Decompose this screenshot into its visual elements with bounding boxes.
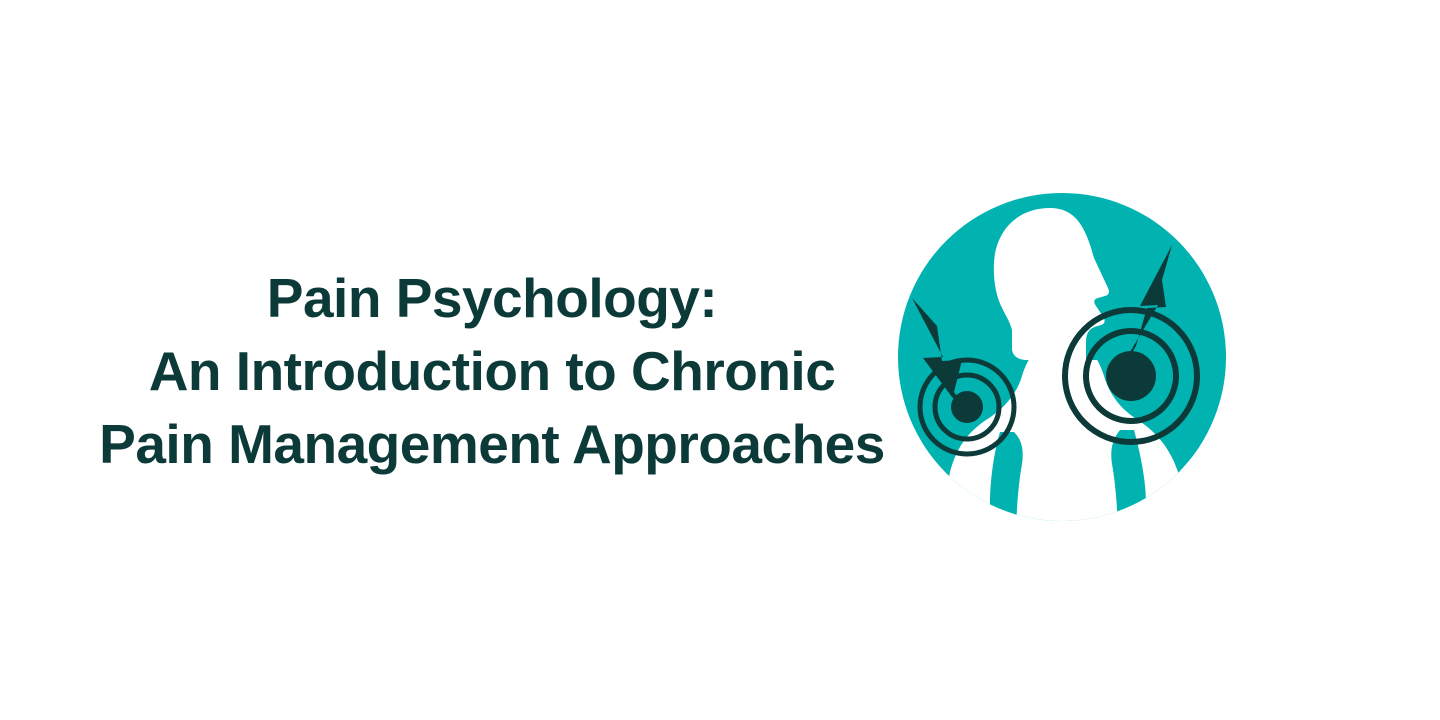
title-line-1: Pain Psychology: [4,262,980,335]
target-right-bullseye-icon [1106,351,1156,401]
slide-canvas: Pain Psychology: An Introduction to Chro… [0,0,1440,720]
page-title: Pain Psychology: An Introduction to Chro… [0,262,980,481]
chronic-pain-figure-illustration [890,180,1240,530]
title-line-2: An Introduction to Chronic [4,335,980,408]
pain-point-target-right [1065,310,1197,442]
title-line-3: Pain Management Approaches [4,408,980,481]
pain-point-target-left [920,360,1014,454]
